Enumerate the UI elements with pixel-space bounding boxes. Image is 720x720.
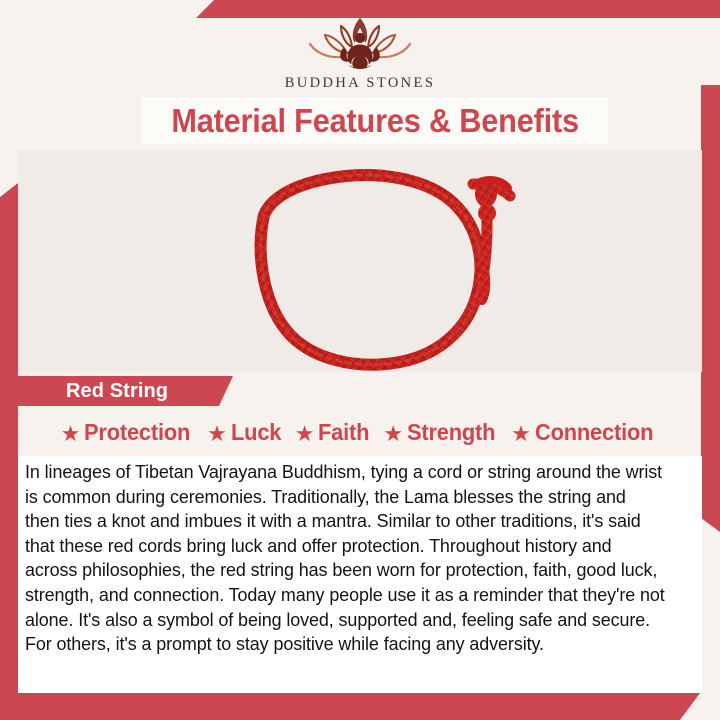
decor-bar-left [0, 183, 18, 693]
star-icon: ★ [207, 423, 227, 445]
product-name-banner: Red String [18, 376, 233, 406]
brand-logo-block: BUDDHA STONES [0, 14, 720, 92]
decor-bar-bottom [0, 693, 700, 720]
star-icon: ★ [511, 423, 531, 445]
red-string-bracelet-illustration [18, 150, 702, 372]
star-icon: ★ [61, 423, 81, 445]
feature-label-faith: Faith [318, 419, 369, 446]
feature-list: ★ Protection ★ Luck ★ Faith ★ Strength ★… [18, 419, 702, 446]
brand-name: BUDDHA STONES [0, 75, 720, 92]
feature-label-luck: Luck [231, 419, 281, 446]
poster-root: BUDDHA STONES Material Features & Benefi… [0, 0, 720, 720]
feature-item-faith: ★ Faith [295, 419, 373, 446]
lotus-meditation-icon [301, 14, 419, 72]
description-panel: In lineages of Tibetan Vajrayana Buddhis… [18, 456, 702, 693]
feature-item-connection: ★ Connection [511, 419, 659, 446]
feature-item-protection: ★ Protection [61, 419, 196, 446]
description-paragraph: In lineages of Tibetan Vajrayana Buddhis… [25, 460, 665, 657]
feature-label-protection: Protection [84, 419, 190, 446]
feature-item-strength: ★ Strength [383, 419, 500, 446]
feature-label-strength: Strength [407, 419, 495, 446]
page-title-band: Material Features & Benefits [142, 97, 608, 144]
decor-bar-right [701, 85, 720, 532]
star-icon: ★ [295, 423, 315, 445]
product-photo [18, 150, 702, 372]
feature-item-luck: ★ Luck [207, 419, 284, 446]
star-icon: ★ [383, 423, 403, 445]
product-name-label: Red String [18, 380, 168, 403]
feature-label-connection: Connection [535, 419, 653, 446]
page-title: Material Features & Benefits [171, 104, 579, 137]
